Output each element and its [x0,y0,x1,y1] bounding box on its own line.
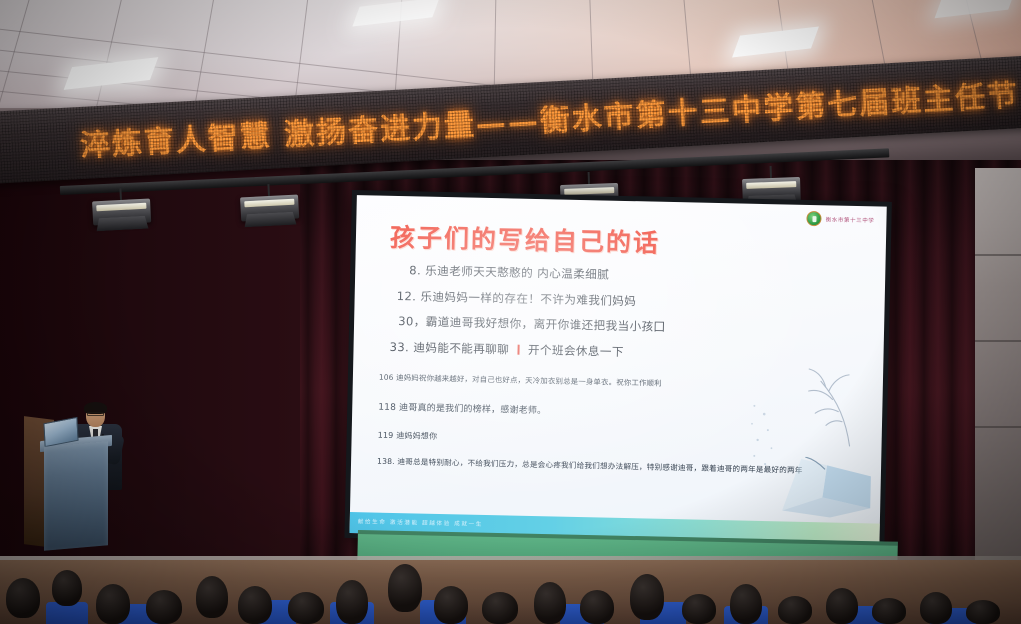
school-name-label: 衡水市第十三中学 [826,215,875,224]
audience-head [96,584,130,624]
audience-head [238,586,272,624]
auditorium-scene: 淬炼育人智慧 激扬奋进力量——衡水市第十三中学第七届班主任节 衡水市第十三中学 … [0,0,1021,624]
audience-head [482,592,518,624]
audience-head [920,592,952,624]
audience-head [534,582,566,624]
school-emblem-icon [807,211,822,226]
projection-screen: 衡水市第十三中学 孩子们的写给自己的话 8. 乐迪老师天天憨憨的 内心温柔细腻 … [350,195,887,544]
decorative-book-icon [778,456,875,520]
audience-head [434,586,468,624]
podium-front-panel [44,441,108,551]
audience-head [730,584,762,624]
slide-bullet-line: 30，霸道迪哥我好想你，离开你谁还把我当小孩囗 [398,313,864,339]
slide-bullet-line: 12. 乐迪妈妈一样的存在！不许为难我们妈妈 [397,288,865,314]
audience-head [388,564,422,612]
audience-head [778,596,812,624]
side-wall-right [975,168,1021,568]
projection-screen-frame: 衡水市第十三中学 孩子们的写给自己的话 8. 乐迪老师天天憨憨的 内心温柔细腻 … [344,190,891,550]
audience-head [630,574,664,620]
slide-bullet-line-text: 33. 迪妈能不能再聊聊 [389,339,509,356]
slide-bullet-line: 8. 乐迪老师天天憨憨的 内心温柔细腻 [409,262,865,288]
audience-head [196,576,228,618]
stage-spotlight [240,194,299,223]
speaker-glasses-icon [87,412,104,416]
podium-area [18,408,148,558]
stage-spotlight [92,198,151,227]
audience-head [580,590,614,624]
audience-head [826,588,858,624]
slide-bullet-list: 8. 乐迪老师天天憨憨的 内心温柔细腻 12. 乐迪妈妈一样的存在！不许为难我们… [383,262,865,374]
audience-head [146,590,182,624]
red-marker-icon [517,344,520,354]
slide-title: 孩子们的写给自己的话 [390,218,661,260]
audience-head [966,600,1000,624]
audience-area [0,556,1021,624]
audience-head [336,580,368,624]
decorative-branch-icon [780,360,866,448]
slide-bullet-line-suffix: 开个班会休息一下 [528,342,624,358]
slide-footer-text: 献给生命 激活潜能 超越体验 成就一生 [358,517,483,528]
audience-head [52,570,82,606]
audience-head [6,578,40,618]
audience-head [872,598,906,624]
audience-head [288,592,324,624]
audience-head [682,594,716,624]
slide-logo: 衡水市第十三中学 [807,211,875,227]
slide-paragraph: 106 迪妈妈祝你越来越好，对自己也好点，天冷加衣别总是一身单衣。祝你工作顺利 [379,372,849,393]
